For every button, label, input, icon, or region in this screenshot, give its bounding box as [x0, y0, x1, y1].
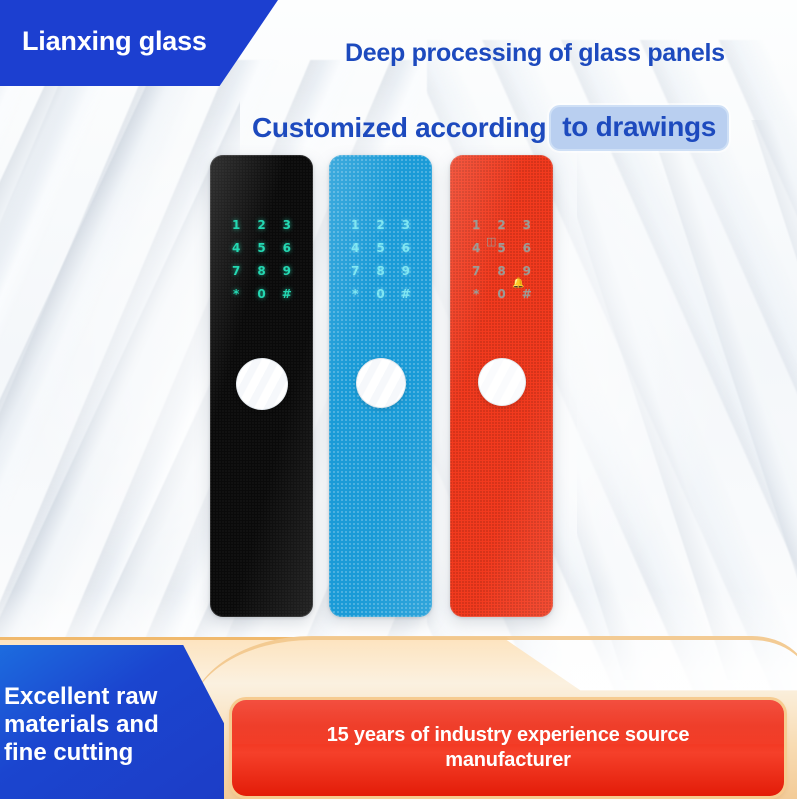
card-icon: ◫ — [486, 237, 496, 248]
key: 0 — [249, 284, 274, 304]
key: 4 — [224, 238, 249, 258]
key: 4 — [343, 238, 368, 258]
key: 8 — [249, 261, 274, 281]
subline-highlight-badge: to drawings — [549, 105, 729, 151]
key: # — [274, 284, 299, 304]
round-knob-cutout — [478, 358, 526, 406]
key: 1 — [343, 215, 368, 235]
key: 9 — [393, 261, 418, 281]
footer-right-banner: 15 years of industry experience source m… — [232, 700, 784, 796]
keypad-red: 1 2 3 4 5 6 7 8 9 * 0 # — [464, 215, 540, 304]
black-glass-lock-panel: 1 2 3 4 5 6 7 8 9 * 0 # — [210, 155, 313, 617]
keypad-black: 1 2 3 4 5 6 7 8 9 * 0 # — [224, 215, 300, 304]
footer-right-banner-text: 15 years of industry experience source m… — [293, 723, 723, 773]
key: 2 — [489, 215, 514, 235]
key: 8 — [368, 261, 393, 281]
key: 0 — [489, 284, 514, 304]
key: # — [393, 284, 418, 304]
subline: Customized according to drawings — [252, 105, 729, 151]
key: 2 — [249, 215, 274, 235]
key: 0 — [368, 284, 393, 304]
footer-left-banner-text: Excellent raw materials and fine cutting — [0, 683, 174, 778]
round-knob-cutout — [356, 358, 406, 408]
key: 6 — [274, 238, 299, 258]
key: 7 — [224, 261, 249, 281]
key: 6 — [514, 238, 539, 258]
key: 7 — [343, 261, 368, 281]
key: 1 — [464, 215, 489, 235]
key: * — [464, 284, 489, 304]
brand-name: Lianxing glass — [0, 26, 207, 57]
key: 2 — [368, 215, 393, 235]
keypad-blue: 1 2 3 4 5 6 7 8 9 * 0 # — [343, 215, 419, 304]
bell-icon: 🔔 — [512, 279, 524, 289]
key: 3 — [393, 215, 418, 235]
key: 1 — [224, 215, 249, 235]
key: 3 — [274, 215, 299, 235]
round-knob-cutout — [236, 358, 288, 410]
key: 5 — [368, 238, 393, 258]
key: * — [343, 284, 368, 304]
red-glass-lock-panel: 1 2 3 4 5 6 7 8 9 * 0 # ◫ 🔔 — [450, 155, 553, 617]
key: 9 — [274, 261, 299, 281]
blue-glass-lock-panel: 1 2 3 4 5 6 7 8 9 * 0 # — [329, 155, 432, 617]
key: 5 — [249, 238, 274, 258]
key: 7 — [464, 261, 489, 281]
key: * — [224, 284, 249, 304]
footer-left-banner: Excellent raw materials and fine cutting — [0, 645, 224, 799]
subline-lead-text: Customized according — [252, 112, 546, 144]
product-poster: Lianxing glass Deep processing of glass … — [0, 0, 797, 799]
key: 6 — [393, 238, 418, 258]
key: 3 — [514, 215, 539, 235]
headline: Deep processing of glass panels — [345, 39, 725, 68]
key: 8 — [489, 261, 514, 281]
